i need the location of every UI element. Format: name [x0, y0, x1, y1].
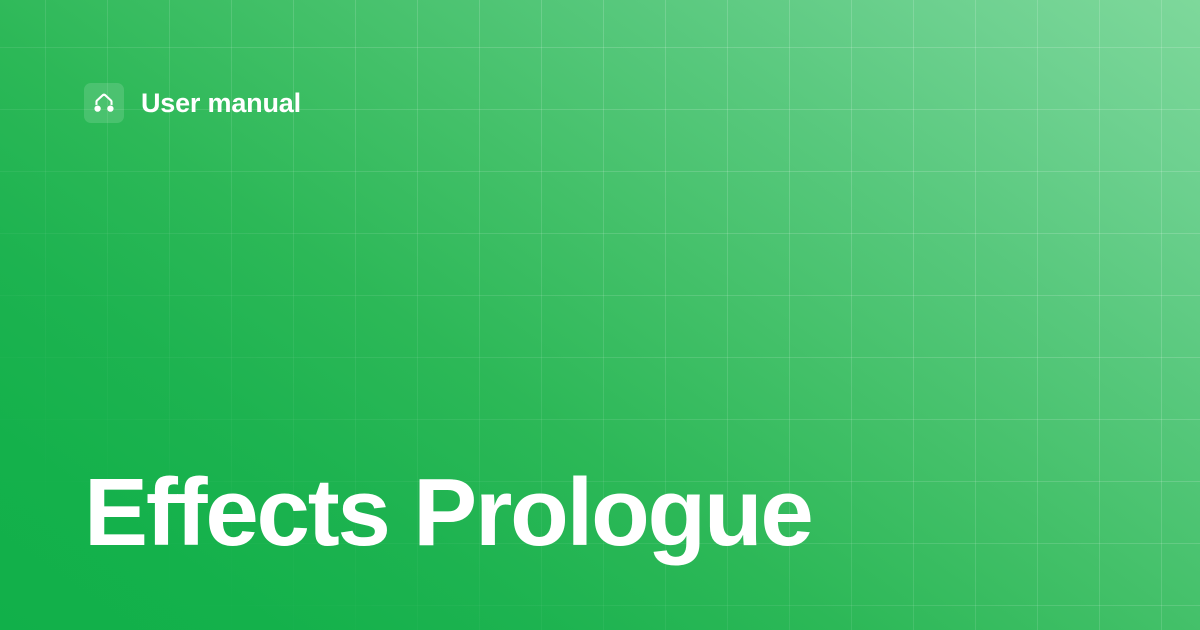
og-banner: User manual Effects Prologue: [0, 0, 1200, 630]
home-arch-icon: [84, 83, 124, 123]
badge-label: User manual: [141, 90, 301, 117]
page-title: Effects Prologue: [84, 464, 812, 562]
user-manual-badge[interactable]: User manual: [84, 83, 301, 123]
